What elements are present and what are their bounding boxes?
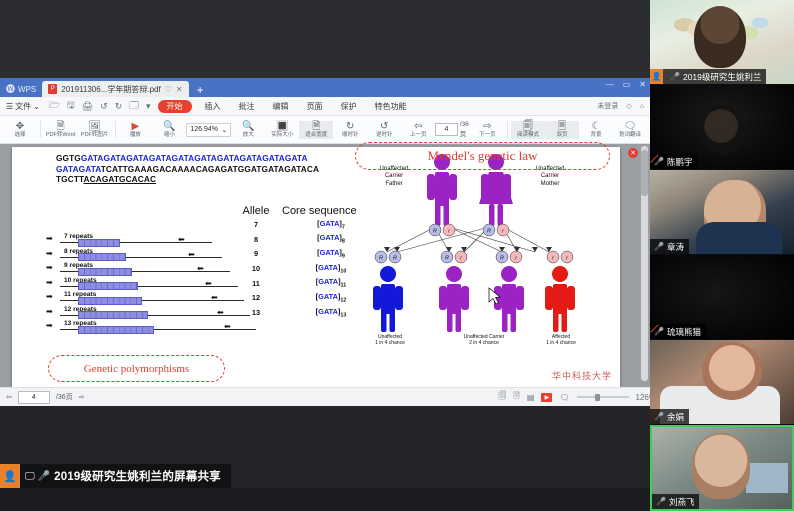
primer-forward-arrow-icon: ➡ bbox=[46, 235, 53, 243]
shared-screen-region: 🅦 WPS P 201911306...学年期答辩.pdf ♡ ✕ + — ▭ … bbox=[0, 0, 650, 506]
wps-titlebar: 🅦 WPS P 201911306...学年期答辩.pdf ♡ ✕ + — ▭ … bbox=[0, 78, 650, 97]
undo-icon[interactable]: ↺ bbox=[100, 101, 108, 112]
annotation-polymorphisms: Genetic polymorphisms bbox=[48, 355, 225, 382]
ribbon-select-tool[interactable]: ✥ 选择 bbox=[3, 121, 37, 139]
ribbon-pdf-to-image[interactable]: 🖼 PDF转图片 bbox=[78, 121, 112, 139]
background-map bbox=[656, 4, 786, 56]
page-total-label: /36页 bbox=[458, 121, 471, 138]
svg-text:R: R bbox=[445, 256, 449, 262]
allele-number: 9 bbox=[230, 249, 282, 258]
participant-namebar: 🎤琉璃熊猫 bbox=[650, 324, 706, 339]
mic-icon[interactable]: 🎤 bbox=[650, 412, 664, 421]
tab-start[interactable]: 开始 bbox=[158, 100, 192, 113]
ribbon-rotate-ccw-label: 逆时针 bbox=[376, 132, 393, 139]
document-tab-label: 201911306...学年期答辩.pdf bbox=[61, 84, 160, 95]
quick-access-chevron-down-icon[interactable]: ▾ bbox=[146, 101, 151, 112]
comment-icon[interactable]: 🗨 bbox=[559, 393, 569, 402]
share-icon[interactable]: 🗔 bbox=[129, 98, 139, 114]
participant-name: 琉璃熊猫 bbox=[667, 326, 701, 338]
participant-name: 陈鹏宇 bbox=[667, 156, 693, 168]
ribbon-zoom-out[interactable]: 🔍 缩小 bbox=[152, 121, 186, 139]
maximize-icon[interactable]: ▭ bbox=[623, 80, 631, 89]
repeat-bar bbox=[78, 326, 154, 334]
open-icon[interactable]: 🗁 bbox=[49, 98, 60, 114]
ribbon-play-label: 播放 bbox=[130, 132, 141, 139]
participant-tile[interactable]: 🎤章涛 bbox=[650, 170, 794, 255]
allele-number: 11 bbox=[230, 279, 282, 288]
window-controls: — ▭ ✕ bbox=[606, 80, 646, 89]
pin-icon[interactable]: ♡ bbox=[165, 85, 172, 94]
seq2-blue: GATAGATA bbox=[56, 164, 101, 174]
next-page-icon: ⇨ bbox=[483, 121, 491, 132]
repeat-row: ➡8 repeats⬅ bbox=[42, 248, 247, 263]
ribbon-tabs: 开始 插入 批注 编辑 页面 保护 特色功能 bbox=[158, 100, 416, 113]
ribbon-pdf-to-word-label: PDF转Word bbox=[46, 132, 76, 139]
ribbon-zoom-out-label: 缩小 bbox=[164, 132, 175, 139]
ribbon-actual-size-label: 实际大小 bbox=[271, 132, 293, 139]
continuous-view-icon[interactable]: ▤ bbox=[527, 393, 535, 402]
night-mode-icon: ☾ bbox=[592, 121, 601, 132]
zoom-chevron-down-icon[interactable]: ⌄ bbox=[221, 126, 227, 134]
allele-number: 13 bbox=[230, 308, 282, 317]
repeat-bar bbox=[78, 297, 142, 305]
participant-namebar: 🎤余娟 bbox=[650, 409, 689, 424]
tab-comment[interactable]: 批注 bbox=[230, 101, 264, 112]
participant-name: 2019级研究生姚利兰 bbox=[683, 71, 761, 83]
zoom-slider[interactable] bbox=[577, 396, 629, 398]
chevron-down-icon: ⌄ bbox=[33, 102, 40, 111]
mic-icon[interactable]: 🎤 bbox=[666, 72, 680, 81]
rotate-ccw-icon: ↺ bbox=[380, 121, 388, 132]
tab-page[interactable]: 页面 bbox=[298, 101, 332, 112]
screen-share-icon: 🖵 bbox=[25, 471, 35, 482]
close-window-icon[interactable]: ✕ bbox=[639, 80, 646, 89]
ribbon-divider bbox=[507, 121, 508, 138]
ribbon-next-page[interactable]: ⇨ 下一页 bbox=[470, 121, 504, 139]
ribbon-dual-page[interactable]: 🗏 双页 bbox=[545, 121, 579, 139]
thumbnail-view-icon[interactable]: 🗐 bbox=[498, 390, 506, 404]
participant-name: 余娟 bbox=[667, 411, 684, 423]
allele-column-header: Allele bbox=[230, 205, 282, 217]
child-outcome-carrier: Unaffected Carrier 2 in 4 chance bbox=[451, 334, 517, 346]
primer-reverse-arrow-icon: ⬅ bbox=[197, 265, 204, 273]
primer-forward-arrow-icon: ➡ bbox=[46, 264, 53, 272]
pdf-to-image-icon: 🖼 bbox=[88, 121, 101, 132]
present-icon[interactable]: ▶ bbox=[541, 393, 552, 402]
allele-number: 12 bbox=[230, 293, 282, 302]
file-menu-label: 文件 bbox=[15, 101, 31, 112]
quick-access-toolbar: 🗁 🖫 🖨 ↺ ↻ 🗔 ▾ bbox=[46, 98, 158, 114]
ribbon-divider bbox=[40, 121, 41, 138]
mic-icon[interactable]: 🎤 bbox=[652, 497, 666, 506]
watermark: 华中科技大学 bbox=[552, 369, 612, 382]
allele-number: 10 bbox=[230, 264, 282, 273]
wps-menubar: ☰ 文件 ⌄ 🗁 🖫 🖨 ↺ ↻ 🗔 ▾ 开始 插入 批注 bbox=[0, 97, 650, 116]
svg-text:R: R bbox=[487, 229, 491, 235]
microphone-icon: 🎤 bbox=[38, 471, 50, 482]
statusbar-page-total: /36页 bbox=[56, 392, 73, 402]
repeats-diagram: ➡7 repeats⬅➡8 repeats⬅➡9 repeats⬅➡10 rep… bbox=[42, 233, 247, 335]
scrollbar-thumb[interactable] bbox=[641, 150, 648, 196]
wps-statusbar: ⇦ 4 /36页 ⇨ 🗐 🗎 ▤ ▶ 🗨 126% bbox=[0, 387, 662, 406]
svg-text:R: R bbox=[393, 256, 397, 262]
primer-reverse-arrow-icon: ⬅ bbox=[211, 294, 218, 302]
ribbon-pdf-to-word[interactable]: 🗎 PDF转Word bbox=[44, 121, 78, 139]
page-number-input[interactable]: 4 bbox=[435, 123, 457, 136]
participant-tile[interactable]: 🎤刘燕飞 bbox=[650, 425, 794, 511]
ribbon-play[interactable]: ▶ 播放 bbox=[118, 121, 152, 139]
primer-forward-arrow-icon: ➡ bbox=[46, 250, 53, 258]
home-icon[interactable]: ⌂ bbox=[640, 103, 644, 110]
print-icon[interactable]: 🖨 bbox=[82, 101, 93, 112]
remote-desktop-background bbox=[0, 0, 650, 78]
primer-forward-arrow-icon: ➡ bbox=[46, 279, 53, 287]
zoom-level-value: 126.94% bbox=[190, 126, 218, 133]
repeat-row: ➡12 repeats⬅ bbox=[42, 306, 247, 321]
primer-forward-arrow-icon: ➡ bbox=[46, 293, 53, 301]
child-outcome-unaffected: Unaffected 1 in 4 chance bbox=[359, 334, 421, 346]
annotation-close-icon[interactable]: ✕ bbox=[628, 148, 638, 158]
ribbon-fit-width-label: 适合宽度 bbox=[305, 132, 327, 139]
wps-ribbon: ✥ 选择 🗎 PDF转Word 🖼 PDF转图片 ▶ 播放 bbox=[0, 116, 650, 144]
taskbar bbox=[0, 488, 650, 506]
hamburger-icon: ☰ bbox=[6, 102, 13, 111]
participant-namebar: 🎤刘燕飞 bbox=[652, 494, 699, 509]
new-tab-icon[interactable]: + bbox=[189, 84, 212, 97]
seq1-black: GGTG bbox=[56, 153, 81, 163]
prev-page-icon: ⇦ bbox=[414, 121, 422, 132]
ribbon-translate[interactable]: 🗨 划词翻译 bbox=[613, 121, 647, 139]
file-menu-button[interactable]: ☰ 文件 ⌄ bbox=[0, 101, 46, 112]
pedigree-diagram: R r R r bbox=[357, 152, 607, 352]
select-icon: ✥ bbox=[16, 121, 24, 132]
repeat-row: ➡13 repeats⬅ bbox=[42, 320, 247, 335]
document-canvas[interactable]: GGTGGATAGATAGATAGATAGATAGATAGATAGATAGATA… bbox=[0, 144, 650, 390]
screen-share-banner: 👤 🖵 🎤 2019级研究生姚利兰的屏幕共享 bbox=[0, 464, 231, 488]
tab-insert[interactable]: 插入 bbox=[196, 101, 230, 112]
dual-page-icon: 🗏 bbox=[558, 121, 566, 132]
ribbon-select-label: 选择 bbox=[14, 132, 25, 139]
repeat-bar bbox=[78, 253, 126, 261]
participant-tile[interactable]: 👤🎤2019级研究生姚利兰 bbox=[650, 0, 794, 85]
participant-namebar: 🎤陈鹏宇 bbox=[650, 154, 697, 169]
wps-logo: 🅦 WPS bbox=[0, 85, 42, 97]
allele-number: 7 bbox=[230, 220, 282, 229]
participant-tile[interactable]: 🎤余娟 bbox=[650, 340, 794, 425]
participant-tile[interactable]: 🎤琉璃熊猫 bbox=[650, 255, 794, 340]
seq2-black: TCATTGAAAGACAAAACAGAGATGGATGATAGATACA bbox=[101, 164, 319, 174]
statusbar-right: 🗐 🗎 ▤ ▶ 🗨 126% bbox=[498, 390, 656, 404]
repeat-row: ➡11 repeats⬅ bbox=[42, 291, 247, 306]
ribbon-dual-page-label: 双页 bbox=[557, 132, 568, 139]
seq3-black: TGCTT bbox=[56, 174, 84, 184]
wps-brand-label: WPS bbox=[18, 85, 36, 94]
ribbon-read-mode[interactable]: 🗐 阅读模式 bbox=[511, 121, 545, 139]
primer-reverse-arrow-icon: ⬅ bbox=[217, 309, 224, 317]
document-vertical-scrollbar[interactable] bbox=[641, 146, 648, 381]
ribbon-translate-label: 划词翻译 bbox=[619, 132, 641, 139]
document-tab[interactable]: P 201911306...学年期答辩.pdf ♡ ✕ bbox=[42, 81, 188, 97]
primer-forward-arrow-icon: ➡ bbox=[46, 308, 53, 316]
pdf-to-word-icon: 🗎 bbox=[57, 121, 65, 132]
participant-namebar: 🎤章涛 bbox=[650, 239, 689, 254]
repeat-row: ➡7 repeats⬅ bbox=[42, 233, 247, 248]
pdf-file-icon: P bbox=[48, 84, 57, 94]
participant-roster[interactable]: 👤🎤2019级研究生姚利兰🎤陈鹏宇🎤章涛🎤琉璃熊猫🎤余娟🎤刘燕飞 bbox=[650, 0, 794, 506]
statusbar-page-input[interactable]: 4 bbox=[18, 391, 50, 404]
single-page-view-icon[interactable]: 🗎 bbox=[513, 390, 519, 404]
primer-reverse-arrow-icon: ⬅ bbox=[205, 280, 212, 288]
close-tab-icon[interactable]: ✕ bbox=[176, 85, 183, 94]
primer-reverse-arrow-icon: ⬅ bbox=[188, 251, 195, 259]
child-outcome-affected: Affected 1 in 4 chance bbox=[531, 334, 591, 346]
wps-logo-icon: 🅦 bbox=[6, 85, 15, 94]
tab-protect[interactable]: 保护 bbox=[332, 101, 366, 112]
repeat-bar bbox=[78, 268, 132, 276]
tab-edit[interactable]: 编辑 bbox=[264, 101, 298, 112]
ribbon-rotate-cw[interactable]: ↻ 顺时针 bbox=[333, 121, 367, 139]
screen-share-label: 2019级研究生姚利兰的屏幕共享 bbox=[54, 468, 221, 484]
seq3-underlined: ACAGATGCACAC bbox=[84, 174, 157, 184]
repeat-bar bbox=[78, 282, 138, 290]
participant-name: 章涛 bbox=[667, 241, 684, 253]
play-icon: ▶ bbox=[132, 121, 140, 132]
zoom-slider-knob[interactable] bbox=[595, 394, 600, 401]
save-icon[interactable]: 🖫 bbox=[67, 98, 75, 114]
read-mode-icon: 🗐 bbox=[523, 121, 533, 132]
diamond-icon[interactable]: ◇ bbox=[626, 102, 631, 110]
annotation-mendel: Mendel's genetic law bbox=[355, 142, 610, 170]
minimize-icon[interactable]: — bbox=[606, 80, 614, 89]
ribbon-prev-page[interactable]: ⇦ 上一页 bbox=[401, 121, 435, 139]
zoom-level-input[interactable]: 126.94% ⌄ bbox=[186, 123, 231, 137]
ribbon-rotate-ccw[interactable]: ↺ 逆时针 bbox=[367, 121, 401, 139]
svg-text:R: R bbox=[433, 229, 437, 235]
svg-text:R: R bbox=[500, 256, 504, 262]
ribbon-zoom-in[interactable]: 🔍 放大 bbox=[231, 121, 265, 139]
account-label[interactable]: 未登录 bbox=[597, 101, 618, 111]
svg-text:R: R bbox=[379, 256, 383, 262]
translate-icon: 🗨 bbox=[624, 121, 637, 132]
statusbar-next-page-icon[interactable]: ⇨ bbox=[79, 393, 85, 401]
presenter-avatar-icon: 👤 bbox=[0, 464, 20, 488]
fit-width-icon: 🗎 bbox=[312, 121, 320, 132]
ribbon-prev-page-label: 上一页 bbox=[410, 132, 427, 139]
ribbon-background-label: 背景 bbox=[591, 132, 602, 139]
ribbon-pdf-to-image-label: PDF转图片 bbox=[81, 132, 109, 139]
repeat-row: ➡9 repeats⬅ bbox=[42, 262, 247, 277]
primer-forward-arrow-icon: ➡ bbox=[46, 322, 53, 330]
participant-tile[interactable]: 🎤陈鹏宇 bbox=[650, 85, 794, 170]
share-banner-icons: 🖵 🎤 bbox=[20, 471, 54, 482]
zoom-out-icon: 🔍 bbox=[163, 121, 175, 132]
participant-avatar: 👤 bbox=[650, 69, 663, 84]
statusbar-prev-page-icon[interactable]: ⇦ bbox=[6, 393, 12, 401]
primer-reverse-arrow-icon: ⬅ bbox=[178, 236, 185, 244]
repeat-bar bbox=[78, 311, 148, 319]
tab-features[interactable]: 特色功能 bbox=[366, 101, 416, 112]
ribbon-zoom-in-label: 放大 bbox=[243, 132, 254, 139]
mic-icon[interactable]: 🎤 bbox=[650, 242, 664, 251]
redo-icon[interactable]: ↻ bbox=[115, 101, 123, 112]
ribbon-fit-width[interactable]: 🗎 适合宽度 bbox=[299, 121, 333, 139]
mic-muted-icon[interactable]: 🎤 bbox=[650, 327, 664, 336]
ribbon-background[interactable]: ☾ 背景 bbox=[579, 121, 613, 139]
ribbon-read-mode-label: 阅读模式 bbox=[517, 132, 539, 139]
ribbon-next-page-label: 下一页 bbox=[479, 132, 496, 139]
pdf-page: GGTGGATAGATAGATAGATAGATAGATAGATAGATAGATA… bbox=[12, 147, 620, 387]
seq1-blue: GATAGATAGATAGATAGATAGATAGATAGATAGATAGATA bbox=[81, 153, 308, 163]
mic-muted-icon[interactable]: 🎤 bbox=[650, 157, 664, 166]
ribbon-rotate-cw-label: 顺时针 bbox=[342, 132, 359, 139]
ribbon-actual-size[interactable]: 🔳 实际大小 bbox=[265, 121, 299, 139]
repeat-bar bbox=[78, 239, 120, 247]
rotate-cw-icon: ↻ bbox=[346, 121, 354, 132]
app-root: 🅦 WPS P 201911306...学年期答辩.pdf ♡ ✕ + — ▭ … bbox=[0, 0, 794, 506]
primer-reverse-arrow-icon: ⬅ bbox=[224, 323, 231, 331]
actual-size-icon: 🔳 bbox=[276, 121, 288, 132]
ribbon-divider bbox=[115, 121, 116, 138]
allele-number: 8 bbox=[230, 235, 282, 244]
menubar-right: 未登录 ◇ ⌂ bbox=[597, 101, 650, 111]
participant-namebar: 👤🎤2019级研究生姚利兰 bbox=[650, 69, 766, 84]
repeat-row: ➡10 repeats⬅ bbox=[42, 277, 247, 292]
zoom-in-icon: 🔍 bbox=[242, 121, 254, 132]
